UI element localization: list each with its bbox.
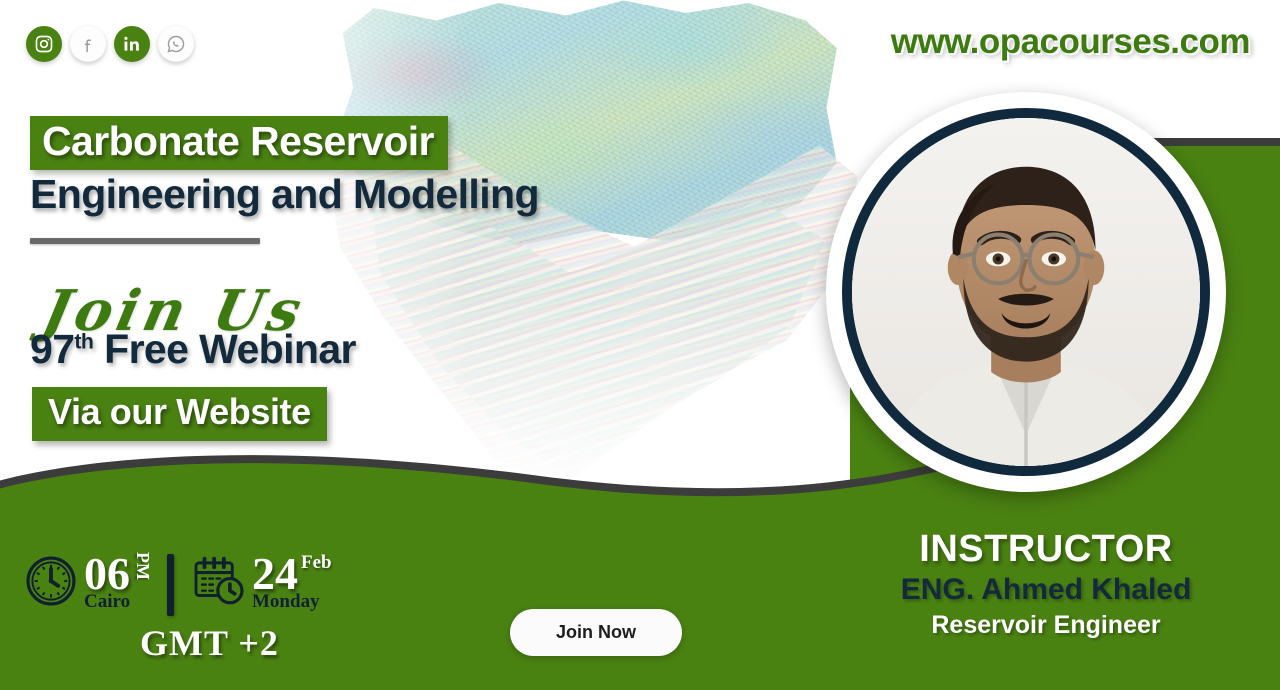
webinar-number: 97 [30,326,74,372]
time-value: 06 [84,552,130,596]
headline: Carbonate Reservoir Engineering and Mode… [30,116,539,244]
schedule-bar: 06PM Cairo [22,552,332,616]
instructor-details: INSTRUCTOR ENG. Ahmed Khaled Reservoir E… [836,528,1256,640]
avatar-photo [852,118,1200,466]
headline-line-2: Engineering and Modelling [30,173,539,216]
schedule-divider [167,554,174,616]
webinar-ordinal: th [74,329,93,353]
webinar-title: Free Webinar [104,326,356,372]
instructor-name: ENG. Ahmed Khaled [836,573,1256,607]
join-now-button[interactable]: Join Now [510,609,682,656]
calendar-clock-icon [190,552,248,610]
whatsapp-icon[interactable] [158,26,194,62]
date-weekday: Monday [252,592,332,611]
via-website-label: Via our Website [48,391,311,433]
schedule-date: 24Feb Monday [190,552,332,611]
date-value: 24 [252,552,298,596]
social-links [26,26,194,62]
time-meridiem: PM [132,552,153,580]
timezone-label: GMT +2 [140,622,279,664]
date-month: Feb [301,552,332,574]
facebook-icon[interactable] [70,26,106,62]
webinar-poster: www.opacourses.com Carbonate Reservoir E… [0,0,1280,690]
via-website-band: Via our Website [32,387,327,441]
webinar-title-row: 97th Free Webinar [30,326,356,373]
website-url[interactable]: www.opacourses.com [891,22,1250,62]
headline-divider [30,238,260,244]
seismic-geological-3d-model [300,0,860,524]
clock-icon [22,552,80,610]
instructor-role: Reservoir Engineer [836,611,1256,640]
linkedin-icon[interactable] [114,26,150,62]
model-fade-mask [300,0,860,524]
instructor-heading: INSTRUCTOR [836,528,1256,571]
instagram-icon[interactable] [26,26,62,62]
headline-band: Carbonate Reservoir [30,116,448,170]
instructor-avatar [826,92,1226,492]
schedule-time: 06PM Cairo [22,552,153,611]
headline-line-1: Carbonate Reservoir [42,120,434,163]
